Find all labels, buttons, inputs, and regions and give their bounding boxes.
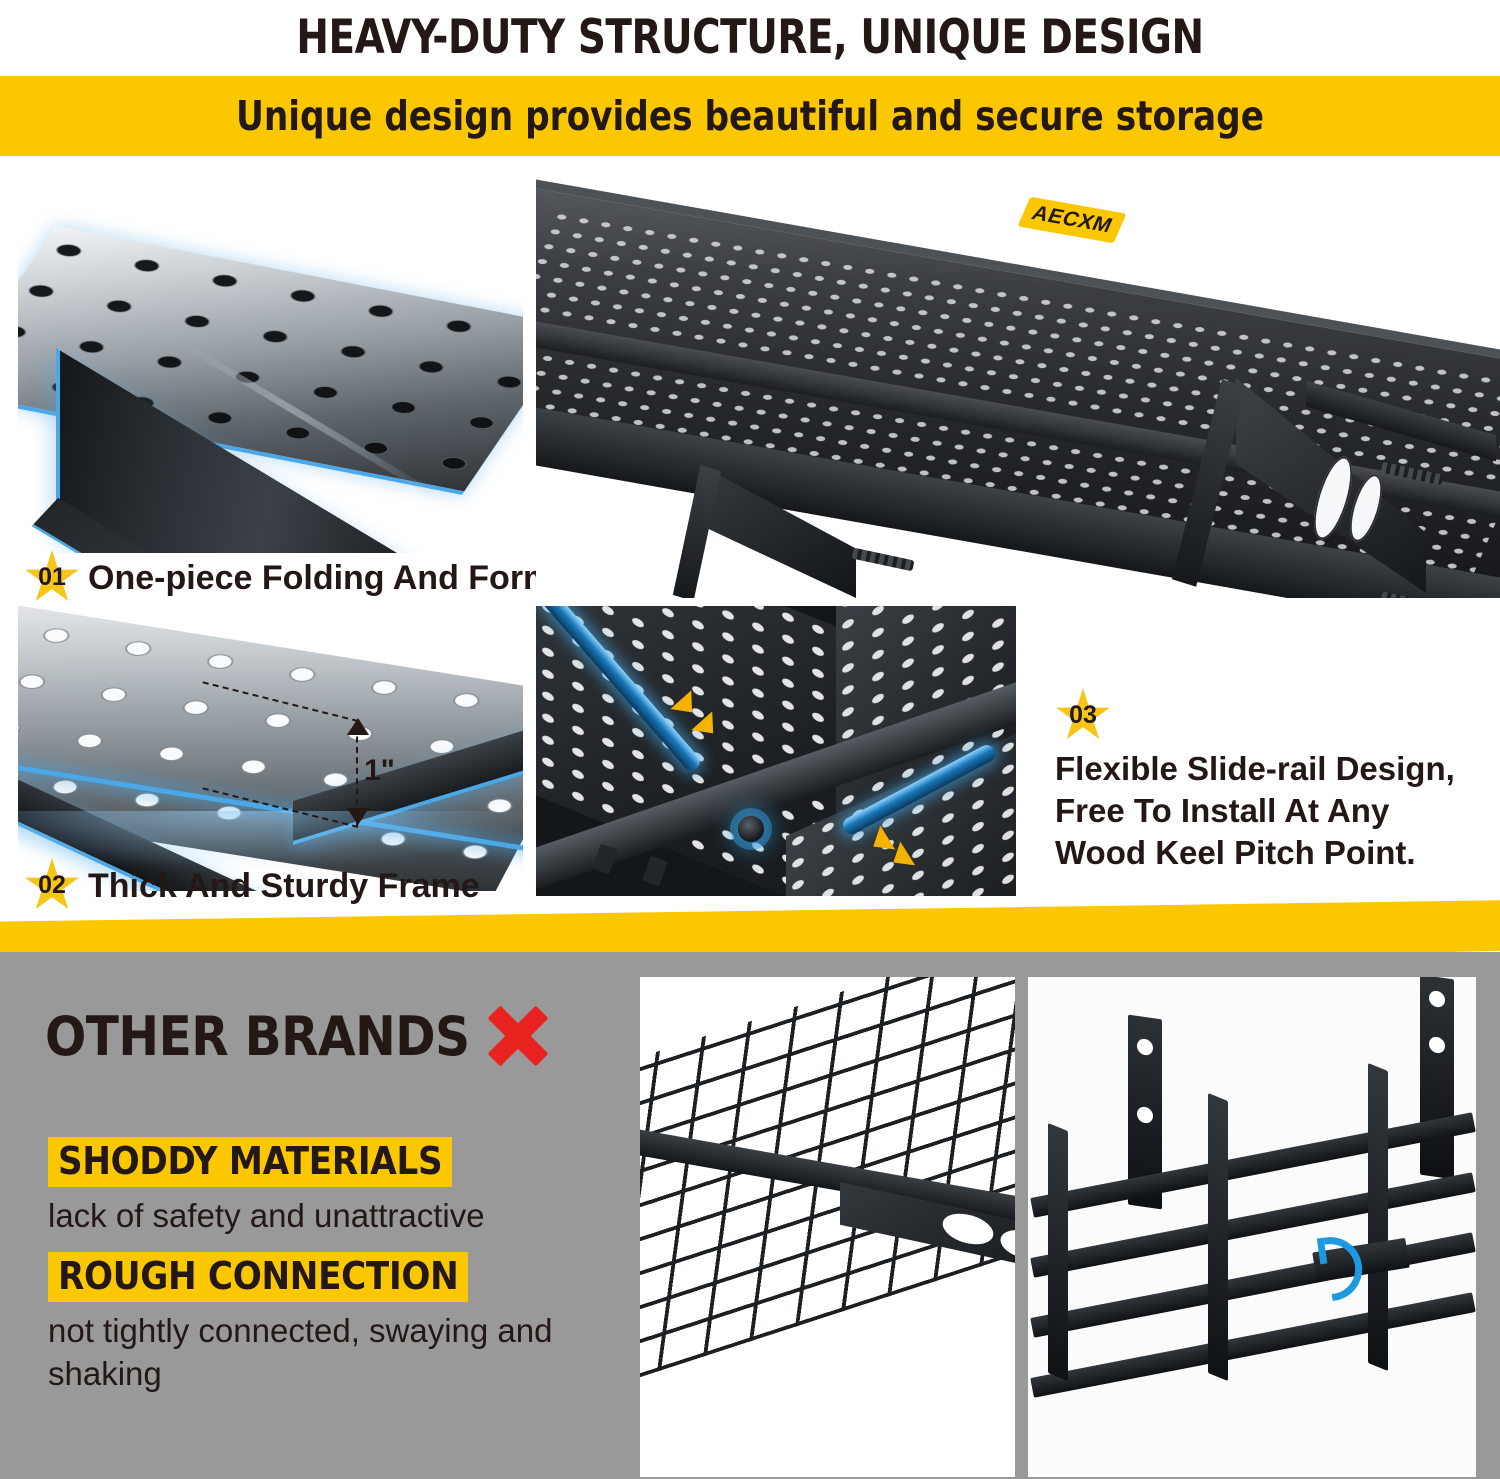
red-x-icon <box>486 1004 550 1068</box>
feature-label-text: One-piece Folding And Forming <box>88 559 604 598</box>
feature-label-text: Flexible Slide-rail Design, Free To Inst… <box>1055 748 1485 874</box>
photo-slide-rail <box>536 606 1016 896</box>
blue-hook-highlight-icon <box>1324 1233 1367 1301</box>
photo-channel-profile <box>18 198 523 553</box>
bracket-hole <box>1137 1038 1153 1056</box>
comparison-item-title: ROUGH CONNECTION <box>48 1252 468 1302</box>
photo-frame-corner <box>18 606 523 891</box>
comparison-item-description: not tightly connected, swaying and shaki… <box>48 1310 578 1396</box>
comparison-section: OTHER BRANDS SHODDY MATERIALS lack of sa… <box>0 952 1500 1479</box>
product-infographic: HEAVY-DUTY STRUCTURE, UNIQUE DESIGN Uniq… <box>0 0 1500 1479</box>
dimension-arrow-up-icon <box>347 718 369 735</box>
feature-number: 03 <box>1069 703 1097 728</box>
wall-bracket-right <box>1420 977 1454 1179</box>
page-title: HEAVY-DUTY STRUCTURE, UNIQUE DESIGN <box>60 2 1440 72</box>
frame-stringer <box>1368 1063 1388 1371</box>
hanger-tab <box>642 856 668 887</box>
brand-logo-badge: AECXM <box>1018 197 1127 244</box>
star-badge-icon: 01 <box>24 550 80 606</box>
photo-hero-rack: AECXM <box>536 168 1500 598</box>
bolt-icon <box>738 816 764 842</box>
photo-competitor-bar-frame <box>1028 977 1476 1477</box>
star-badge-icon: 03 <box>1055 688 1111 744</box>
frame-stringer <box>1048 1123 1068 1381</box>
dimension-annotation: 1" <box>318 696 438 856</box>
feature-label-03: 03 Flexible Slide-rail Design, Free To I… <box>1055 688 1485 874</box>
bracket-hole <box>1429 1036 1445 1054</box>
feature-photo-area: 01 One-piece Folding And Forming 1" 02 <box>0 158 1500 926</box>
bracket-hole <box>1137 1106 1153 1124</box>
feature-label-01: 01 One-piece Folding And Forming <box>24 550 604 606</box>
page-subtitle: Unique design provides beautiful and sec… <box>53 76 1448 156</box>
frame-stringer <box>1208 1093 1228 1381</box>
dimension-arrow-down-icon <box>347 808 369 825</box>
photo-competitor-mesh <box>640 977 1015 1477</box>
dimension-value: 1" <box>364 754 395 788</box>
feature-number: 01 <box>38 565 66 590</box>
wall-anchor-icon <box>852 548 915 572</box>
comparison-item-title: SHODDY MATERIALS <box>48 1137 452 1187</box>
comparison-heading-row: OTHER BRANDS <box>45 1004 550 1068</box>
comparison-item-description: lack of safety and unattractive <box>48 1195 578 1238</box>
comparison-item-1: SHODDY MATERIALS lack of safety and unat… <box>48 1137 578 1238</box>
feature-number: 02 <box>38 873 66 898</box>
bracket-hole <box>1429 990 1445 1008</box>
comparison-heading: OTHER BRANDS <box>45 1005 470 1068</box>
comparison-item-2: ROUGH CONNECTION not tightly connected, … <box>48 1252 578 1396</box>
